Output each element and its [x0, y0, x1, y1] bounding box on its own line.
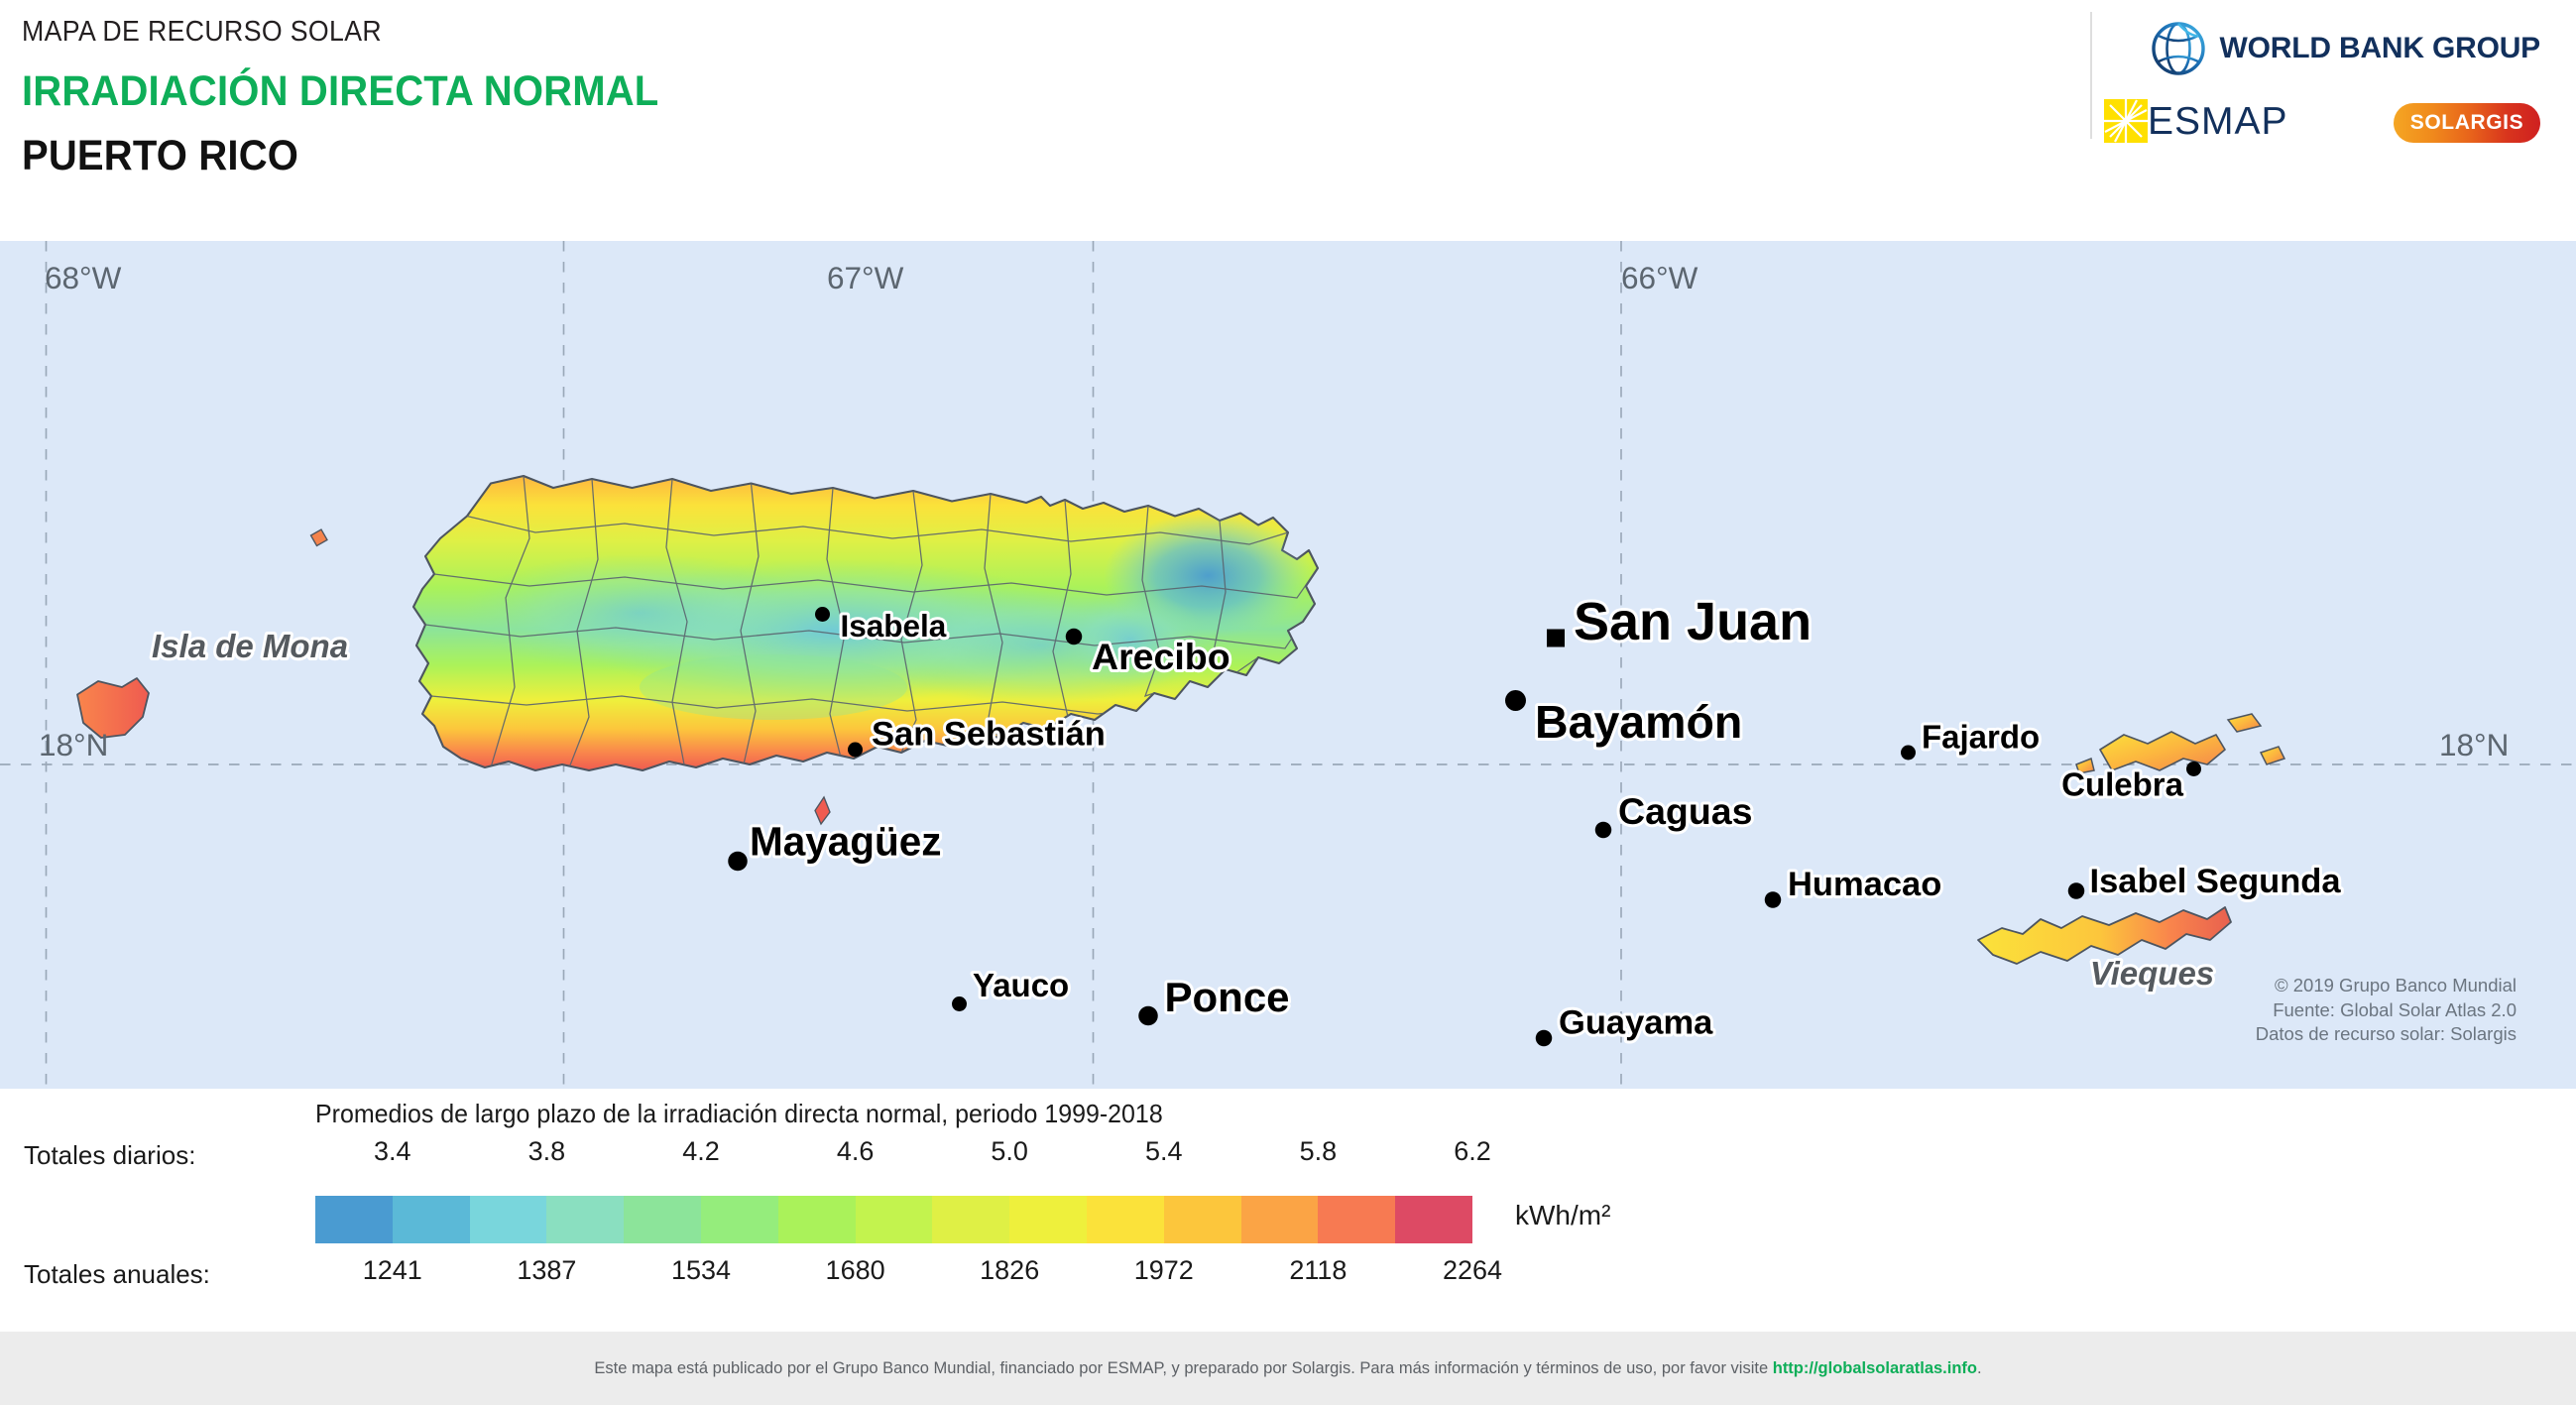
- graticule-label-18n-left: 18°N: [39, 727, 108, 762]
- city-label-arecibo: Arecibo: [1092, 636, 1230, 677]
- city-label-fajardo: Fajardo: [1922, 719, 2040, 756]
- legend-swatch-11: [1164, 1196, 1241, 1243]
- page-subtitle-country: PUERTO RICO: [22, 132, 658, 180]
- legend-daily-ticks: 3.43.84.24.65.05.45.86.2: [315, 1136, 1472, 1170]
- page-kicker: MAPA DE RECURSO SOLAR: [22, 16, 652, 49]
- header-divider: [2090, 12, 2092, 139]
- city-label-mayaguez: Mayagüez: [750, 819, 942, 865]
- legend-swatch-5: [701, 1196, 778, 1243]
- legend-swatch-8: [932, 1196, 1009, 1243]
- legend-annual-tick-7: 2264: [1443, 1255, 1502, 1286]
- legend-annual-tick-0: 1241: [363, 1255, 422, 1286]
- legend-daily-label: Totales diarios:: [24, 1140, 195, 1171]
- legend-daily-tick-1: 3.8: [528, 1136, 566, 1167]
- city-marker-isabel-segunda[interactable]: [2068, 882, 2085, 899]
- legend-swatch-14: [1395, 1196, 1472, 1243]
- graticule-label-66w: 66°W: [1621, 260, 1698, 295]
- city-label-bayamon: Bayamón: [1535, 696, 1742, 748]
- city-marker-isabela[interactable]: [815, 607, 830, 622]
- attribution-data: Datos de recurso solar: Solargis: [2256, 1022, 2517, 1047]
- label-vieques: Vieques: [2090, 955, 2214, 992]
- graticule-label-67w: 67°W: [827, 260, 904, 295]
- legend-swatch-6: [778, 1196, 856, 1243]
- legend-swatch-9: [1009, 1196, 1087, 1243]
- legend-swatch-2: [470, 1196, 547, 1243]
- city-marker-san-juan[interactable]: [1547, 630, 1565, 647]
- logo-group: WORLD BANK GROUP ESMAP: [2104, 14, 2540, 141]
- city-label-isabela: Isabela: [841, 608, 947, 644]
- legend: Promedios de largo plazo de la irradiaci…: [0, 1089, 2576, 1332]
- attribution-copyright: © 2019 Grupo Banco Mundial: [2256, 974, 2517, 998]
- footer-link[interactable]: http://globalsolaratlas.info: [1773, 1359, 1977, 1377]
- legend-daily-tick-5: 5.4: [1145, 1136, 1183, 1167]
- city-label-yauco: Yauco: [973, 967, 1069, 1003]
- legend-swatch-1: [393, 1196, 470, 1243]
- map-canvas[interactable]: 68°W 67°W 66°W 18°N 18°N Isla de Mona Vi…: [0, 241, 2576, 1089]
- city-marker-bayamon[interactable]: [1505, 690, 1526, 711]
- city-label-san-juan: San Juan: [1574, 592, 1812, 651]
- legend-annual-label: Totales anuales:: [24, 1259, 210, 1290]
- city-label-caguas: Caguas: [1618, 790, 1752, 832]
- legend-swatch-4: [624, 1196, 701, 1243]
- header-title-block: MAPA DE RECURSO SOLAR IRRADIACIÓN DIRECT…: [22, 16, 707, 180]
- city-marker-ponce[interactable]: [1138, 1006, 1158, 1026]
- city-marker-culebra[interactable]: [2186, 761, 2201, 776]
- city-label-culebra: Culebra: [2061, 766, 2184, 803]
- attribution-source: Fuente: Global Solar Atlas 2.0: [2256, 998, 2517, 1023]
- legend-annual-tick-3: 1680: [826, 1255, 885, 1286]
- legend-annual-tick-2: 1534: [671, 1255, 731, 1286]
- esmap-logo: ESMAP: [2104, 99, 2288, 143]
- sunburst-icon: [2104, 99, 2148, 143]
- page-footer: Este mapa está publicado por el Grupo Ba…: [0, 1332, 2576, 1405]
- city-marker-caguas[interactable]: [1595, 822, 1612, 839]
- world-bank-logo: WORLD BANK GROUP: [2150, 20, 2540, 77]
- city-marker-humacao[interactable]: [1765, 891, 1782, 908]
- legend-daily-tick-7: 6.2: [1454, 1136, 1491, 1167]
- graticule-label-18n-right: 18°N: [2439, 727, 2509, 762]
- city-label-guayama: Guayama: [1559, 1004, 1713, 1042]
- legend-annual-tick-4: 1826: [980, 1255, 1039, 1286]
- legend-swatch-13: [1318, 1196, 1395, 1243]
- legend-annual-tick-1: 1387: [517, 1255, 576, 1286]
- city-marker-mayaguez[interactable]: [728, 852, 748, 872]
- legend-annual-tick-5: 1972: [1134, 1255, 1194, 1286]
- page-title: IRRADIACIÓN DIRECTA NORMAL: [22, 67, 658, 116]
- footer-text-before: Este mapa está publicado por el Grupo Ba…: [594, 1359, 1772, 1377]
- city-marker-guayama[interactable]: [1536, 1030, 1553, 1047]
- legend-annual-tick-6: 2118: [1289, 1255, 1347, 1286]
- legend-daily-tick-3: 4.6: [837, 1136, 875, 1167]
- city-marker-fajardo[interactable]: [1901, 746, 1916, 761]
- globe-icon: [2150, 20, 2207, 77]
- city-marker-san-sebastian[interactable]: [848, 743, 863, 758]
- legend-swatch-7: [856, 1196, 933, 1243]
- city-marker-yauco[interactable]: [952, 996, 967, 1011]
- city-label-san-sebastian: San Sebastián: [872, 716, 1106, 754]
- solar-resource-map-page: MAPA DE RECURSO SOLAR IRRADIACIÓN DIRECT…: [0, 0, 2576, 1405]
- footer-text: Este mapa está publicado por el Grupo Ba…: [594, 1359, 1981, 1378]
- legend-colorbar: [315, 1196, 1472, 1243]
- legend-swatch-10: [1087, 1196, 1164, 1243]
- legend-daily-tick-4: 5.0: [991, 1136, 1028, 1167]
- legend-swatch-3: [546, 1196, 624, 1243]
- legend-annual-ticks: 12411387153416801826197221182264: [315, 1255, 1472, 1289]
- solargis-logo: SOLARGIS: [2394, 103, 2540, 143]
- legend-swatch-0: [315, 1196, 393, 1243]
- footer-text-after: .: [1977, 1359, 1982, 1377]
- graticule-label-68w: 68°W: [45, 260, 122, 295]
- map-attribution: © 2019 Grupo Banco Mundial Fuente: Globa…: [2256, 974, 2517, 1047]
- solargis-wordmark: SOLARGIS: [2410, 111, 2523, 135]
- legend-daily-tick-0: 3.4: [374, 1136, 411, 1167]
- esmap-wordmark: ESMAP: [2148, 102, 2288, 141]
- city-label-ponce: Ponce: [1165, 974, 1290, 1020]
- legend-unit-label: kWh/m²: [1515, 1200, 1610, 1231]
- world-bank-wordmark: WORLD BANK GROUP: [2220, 32, 2540, 65]
- solar-irradiation-map[interactable]: 68°W 67°W 66°W 18°N 18°N Isla de Mona Vi…: [0, 241, 2576, 1089]
- page-header: MAPA DE RECURSO SOLAR IRRADIACIÓN DIRECT…: [0, 0, 2576, 241]
- city-marker-arecibo[interactable]: [1066, 629, 1083, 645]
- label-isla-de-mona: Isla de Mona: [152, 628, 348, 664]
- legend-daily-tick-6: 5.8: [1300, 1136, 1338, 1167]
- city-label-isabel-segunda: Isabel Segunda: [2090, 863, 2342, 900]
- legend-daily-tick-2: 4.2: [682, 1136, 720, 1167]
- legend-swatch-12: [1241, 1196, 1319, 1243]
- city-label-humacao: Humacao: [1788, 866, 1941, 903]
- legend-caption: Promedios de largo plazo de la irradiaci…: [315, 1099, 1163, 1129]
